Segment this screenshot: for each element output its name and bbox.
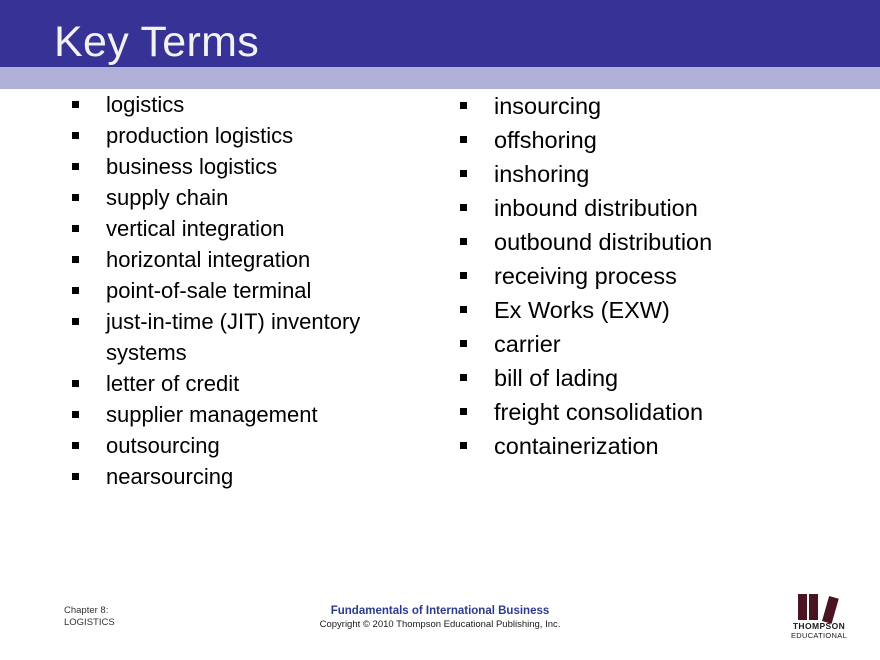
footer-center-block: Fundamentals of International Business C… [0,604,880,631]
book-spine-icon [798,594,807,620]
slide-footer: Chapter 8: LOGISTICS Fundamentals of Int… [0,586,880,660]
book-title: Fundamentals of International Business [0,604,880,618]
key-term-item: point-of-sale terminal [70,275,430,306]
key-term-item: letter of credit [70,368,430,399]
key-term-item: logistics [70,89,430,120]
key-term-item: vertical integration [70,213,430,244]
book-spine-icon [809,594,818,620]
key-term-item: nearsourcing [70,461,430,492]
key-term-item: just-in-time (JIT) inventory systems [70,306,430,368]
key-term-item: carrier [458,327,788,361]
key-term-item: horizontal integration [70,244,430,275]
publisher-logo: THOMPSON EDUCATIONAL [780,592,858,638]
key-term-item: insourcing [458,89,788,123]
key-term-item: containerization [458,429,788,463]
page-title: Key Terms [54,18,259,66]
key-terms-content: logisticsproduction logisticsbusiness lo… [0,89,880,569]
logo-subtitle: EDUCATIONAL [780,631,858,640]
slide: Key Terms logisticsproduction logisticsb… [0,0,880,660]
books-icon [780,592,858,620]
key-term-item: freight consolidation [458,395,788,429]
key-terms-left-column: logisticsproduction logisticsbusiness lo… [70,89,430,492]
key-term-item: Ex Works (EXW) [458,293,788,327]
logo-name: THOMPSON [780,621,858,631]
key-term-item: offshoring [458,123,788,157]
copyright-notice: Copyright © 2010 Thompson Educational Pu… [0,618,880,631]
key-term-item: supply chain [70,182,430,213]
key-term-item: outsourcing [70,430,430,461]
key-term-item: supplier management [70,399,430,430]
key-term-item: bill of lading [458,361,788,395]
key-term-item: inshoring [458,157,788,191]
key-terms-right-column: insourcingoffshoringinshoringinbound dis… [458,89,788,463]
key-term-item: production logistics [70,120,430,151]
key-term-item: receiving process [458,259,788,293]
key-term-item: outbound distribution [458,225,788,259]
key-term-item: business logistics [70,151,430,182]
book-spine-tilted-icon [822,596,839,624]
key-term-item: inbound distribution [458,191,788,225]
header-accent-band [0,67,880,89]
